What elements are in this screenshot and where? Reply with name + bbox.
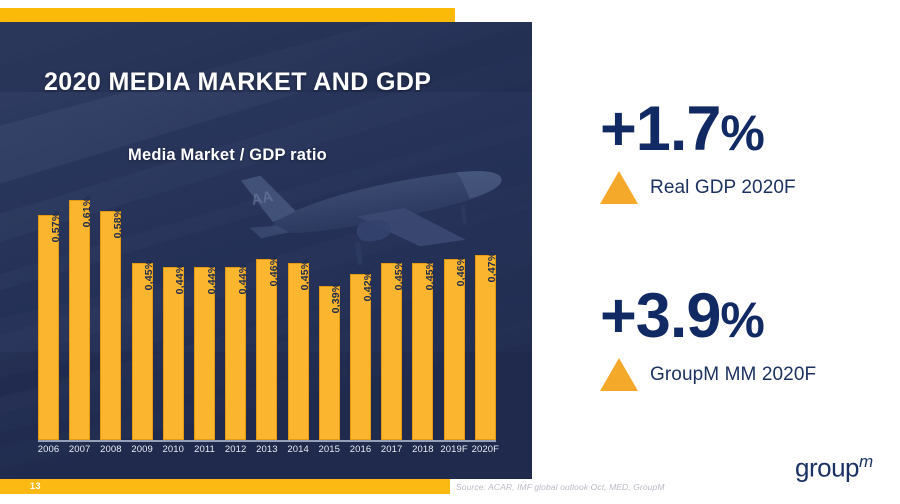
chart-bar: 0,44% [163,267,184,440]
chart-bar: 0,58% [100,211,121,440]
metric-groupm-mm: +3.9% GroupM MM 2020F [600,285,816,391]
dark-photo-panel: AA 2020 MEDIA MARKET AND GDP Media Marke… [0,22,532,479]
logo-wordmark: group [795,453,859,483]
chart-bar-label-wrap: 0,45% [289,270,310,330]
chart-bar-value-label: 0,45% [299,259,311,290]
chart-x-tick-label: 2009 [126,444,159,455]
chart-bar: 0,47% [475,255,496,440]
chart-x-tick-label: 2007 [63,444,96,455]
chart-bar: 0,39% [319,286,340,440]
slide-canvas: AA 2020 MEDIA MARKET AND GDP Media Marke… [0,0,900,504]
chart-bar-label-wrap: 0,45% [413,270,434,330]
metric-real-gdp-caption: Real GDP 2020F [600,171,796,204]
chart-x-tick-label: 2014 [282,444,315,455]
metric-real-gdp-number: +1.7 [600,94,720,164]
triangle-up-icon [600,358,638,391]
chart-bar: 0,57% [38,215,59,440]
chart-bar-value-label: 0,45% [393,259,405,290]
chart-bar-label-wrap: 0,44% [226,274,247,334]
chart-bar: 0,45% [412,263,433,440]
chart-bar: 0,44% [225,267,246,440]
chart-x-tick-label: 2012 [219,444,252,455]
metric-real-gdp-label: Real GDP 2020F [650,177,796,199]
chart-bar-value-label: 0,39% [330,283,342,314]
bottom-accent-bar [0,479,450,494]
groupm-logo: groupm [795,452,873,484]
chart-x-tick-label: 2015 [313,444,346,455]
chart-bar-value-label: 0,44% [174,263,186,294]
chart-x-tick-label: 2013 [250,444,283,455]
chart-x-tick-label: 2008 [94,444,127,455]
chart-bar: 0,46% [256,259,277,440]
chart-bar-label-wrap: 0,46% [445,266,466,326]
chart-bar-value-label: 0,58% [112,208,124,239]
chart-x-tick-label: 2020F [469,444,502,455]
chart-bar-value-label: 0,44% [206,263,218,294]
chart-bar: 0,44% [194,267,215,440]
chart-bar-value-label: 0,46% [455,255,467,286]
chart-bar-value-label: 0,44% [237,263,249,294]
chart-x-tick-label: 2011 [188,444,221,455]
chart-title: Media Market / GDP ratio [128,146,327,165]
chart-bar: 0,42% [350,274,371,440]
top-accent-bar [0,8,455,22]
chart-x-tick-label: 2016 [344,444,377,455]
chart-bar-value-label: 0,57% [50,212,62,243]
chart-bar: 0,46% [444,259,465,440]
chart-bar-label-wrap: 0,44% [195,274,216,334]
chart-plot-area: 0,57%0,61%0,58%0,45%0,44%0,44%0,44%0,46%… [30,172,505,440]
chart-x-tick-label: 2018 [406,444,439,455]
chart-bar: 0,45% [132,263,153,440]
chart-x-axis-line [38,440,496,442]
metric-groupm-mm-caption: GroupM MM 2020F [600,358,816,391]
chart-x-tick-label: 2017 [375,444,408,455]
chart-bar-label-wrap: 0,57% [39,222,60,282]
chart-bar-label-wrap: 0,61% [70,207,91,267]
triangle-up-icon [600,171,638,204]
chart-bar-label-wrap: 0,45% [133,270,154,330]
chart-bar-label-wrap: 0,47% [476,262,497,322]
chart-bar-value-label: 0,45% [424,259,436,290]
metric-groupm-mm-value: +3.9% [600,285,816,348]
chart-x-tick-label: 2019F [438,444,471,455]
chart-bar-value-label: 0,47% [486,251,498,282]
chart-bar: 0,45% [288,263,309,440]
chart-bar-label-wrap: 0,58% [101,218,122,278]
chart-bar-label-wrap: 0,46% [257,266,278,326]
chart-x-tick-label: 2010 [157,444,190,455]
chart-bar-value-label: 0,46% [268,255,280,286]
chart-bar-value-label: 0,61% [81,196,93,227]
chart-bar: 0,61% [69,200,90,440]
logo-superscript-m: m [859,452,873,471]
page-title: 2020 MEDIA MARKET AND GDP [44,68,431,97]
source-note: Source: ACAR, IMF global outlook Oct, ME… [456,482,665,492]
metric-real-gdp-value: +1.7% [600,98,796,161]
chart-x-tick-label: 2006 [32,444,65,455]
chart-bar-value-label: 0,42% [362,271,374,302]
metric-real-gdp-unit: % [720,105,763,161]
slide-number: 13 [30,480,60,493]
chart-x-axis-labels: 2006200720082009201020112012201320142015… [30,444,505,464]
metric-groupm-mm-unit: % [720,292,763,348]
chart-bar-label-wrap: 0,45% [382,270,403,330]
chart-bar-label-wrap: 0,39% [320,293,341,353]
metric-groupm-mm-number: +3.9 [600,281,720,351]
metric-real-gdp: +1.7% Real GDP 2020F [600,98,796,204]
media-market-gdp-ratio-chart: 0,57%0,61%0,58%0,45%0,44%0,44%0,44%0,46%… [30,172,505,467]
metric-groupm-mm-label: GroupM MM 2020F [650,364,816,386]
chart-bar: 0,45% [381,263,402,440]
chart-bar-value-label: 0,45% [143,259,155,290]
chart-bar-label-wrap: 0,44% [164,274,185,334]
chart-bar-label-wrap: 0,42% [351,281,372,341]
